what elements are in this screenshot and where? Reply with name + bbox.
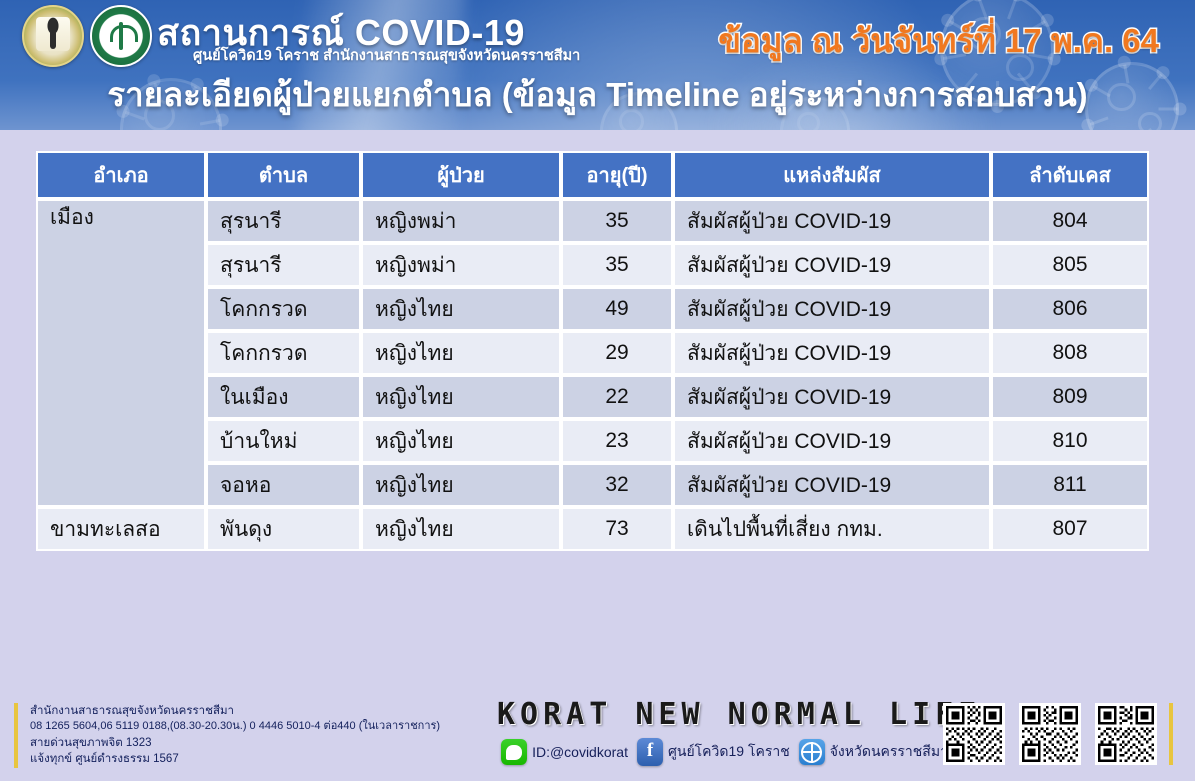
cell-age: 29 <box>561 331 673 375</box>
cell-patient: หญิงไทย <box>361 375 561 419</box>
social-facebook[interactable]: f ศูนย์โควิด19 โคราช <box>637 738 790 766</box>
cell-source: สัมผัสผู้ป่วย COVID-19 <box>673 287 991 331</box>
header-logos <box>22 5 152 67</box>
table-row: เมือง สุรนารี หญิงพม่า 35 สัมผัสผู้ป่วย … <box>36 199 1149 243</box>
column-header-amphoe: อำเภอ <box>36 151 206 199</box>
cell-age: 22 <box>561 375 673 419</box>
cell-source: เดินไปพื้นที่เสี่ยง กทม. <box>673 507 991 551</box>
cell-patient: หญิงพม่า <box>361 199 561 243</box>
cell-patient: หญิงไทย <box>361 287 561 331</box>
cell-source: สัมผัสผู้ป่วย COVID-19 <box>673 375 991 419</box>
campaign-brand: KORAT NEW NORMAL LIFE ID:@covidkorat f ศ… <box>497 697 952 766</box>
cell-case-no: 805 <box>991 243 1149 287</box>
cell-patient: หญิงพม่า <box>361 243 561 287</box>
social-line[interactable]: ID:@covidkorat <box>501 739 628 765</box>
cell-tambon: โคกกรวด <box>206 331 361 375</box>
cell-tambon: ในเมือง <box>206 375 361 419</box>
social-line-label: ID:@covidkorat <box>532 744 628 760</box>
cell-tambon: สุรนารี <box>206 243 361 287</box>
column-header-case-no: ลำดับเคส <box>991 151 1149 199</box>
cell-tambon: สุรนารี <box>206 199 361 243</box>
cell-source: สัมผัสผู้ป่วย COVID-19 <box>673 199 991 243</box>
contact-info: สำนักงานสาธารณสุขจังหวัดนครราชสีมา 08 12… <box>14 703 440 768</box>
cell-source: สัมผัสผู้ป่วย COVID-19 <box>673 243 991 287</box>
contact-line-complaint-center: แจ้งทุกข์ ศูนย์ดำรงธรรม 1567 <box>30 751 440 767</box>
cell-case-no: 807 <box>991 507 1149 551</box>
cases-table: อำเภอ ตำบล ผู้ป่วย อายุ(ปี) แหล่งสัมผัส … <box>36 151 1149 551</box>
cell-age: 73 <box>561 507 673 551</box>
page-header: สถานการณ์ COVID-19 ศูนย์โควิด19 โคราช สำ… <box>0 0 1195 130</box>
qr-code[interactable] <box>1019 703 1081 765</box>
cell-tambon: พันดุง <box>206 507 361 551</box>
cell-case-no: 810 <box>991 419 1149 463</box>
cell-age: 35 <box>561 243 673 287</box>
qr-code[interactable] <box>943 703 1005 765</box>
cell-patient: หญิงไทย <box>361 331 561 375</box>
report-date: ข้อมูล ณ วันจันทร์ที่ 17 พ.ค. 64 <box>718 14 1159 67</box>
cell-age: 32 <box>561 463 673 507</box>
cell-source: สัมผัสผู้ป่วย COVID-19 <box>673 419 991 463</box>
cell-patient: หญิงไทย <box>361 507 561 551</box>
website-icon <box>799 739 825 765</box>
column-header-source: แหล่งสัมผัส <box>673 151 991 199</box>
cell-age: 49 <box>561 287 673 331</box>
contact-line-phones: 08 1265 5604,06 5119 0188,(08.30-20.30น.… <box>30 719 440 735</box>
ministry-of-public-health-seal-icon <box>90 5 152 67</box>
cell-case-no: 806 <box>991 287 1149 331</box>
cell-patient: หญิงไทย <box>361 419 561 463</box>
caduceus-icon <box>102 17 140 55</box>
cell-amphoe: ขามทะเลสอ <box>36 507 206 551</box>
column-header-tambon: ตำบล <box>206 151 361 199</box>
cell-case-no: 804 <box>991 199 1149 243</box>
social-facebook-label: ศูนย์โควิด19 โคราช <box>668 741 790 763</box>
report-headline: รายละเอียดผู้ป่วยแยกตำบล (ข้อมูล Timelin… <box>0 68 1195 121</box>
table-row: ขามทะเลสอ พันดุง หญิงไทย 73 เดินไปพื้นที… <box>36 507 1149 551</box>
page-subtitle-organization: ศูนย์โควิด19 โคราช สำนักงานสาธารณสุขจังห… <box>193 44 580 67</box>
qr-code-pattern <box>946 706 1002 762</box>
campaign-title: KORAT NEW NORMAL LIFE <box>497 697 952 732</box>
cell-amphoe: เมือง <box>36 199 206 507</box>
qr-code[interactable] <box>1095 703 1157 765</box>
qr-code-group <box>943 703 1173 765</box>
cell-patient: หญิงไทย <box>361 463 561 507</box>
contact-line-organization: สำนักงานสาธารณสุขจังหวัดนครราชสีมา <box>30 703 440 719</box>
cases-table-container: อำเภอ ตำบล ผู้ป่วย อายุ(ปี) แหล่งสัมผัส … <box>36 151 1149 551</box>
cell-tambon: โคกกรวด <box>206 287 361 331</box>
cell-age: 35 <box>561 199 673 243</box>
cell-tambon: บ้านใหม่ <box>206 419 361 463</box>
cell-case-no: 809 <box>991 375 1149 419</box>
cell-tambon: จอหอ <box>206 463 361 507</box>
social-website[interactable]: จังหวัดนครราชสีมา <box>799 739 948 765</box>
page-footer: สำนักงานสาธารณสุขจังหวัดนครราชสีมา 08 12… <box>0 689 1195 781</box>
facebook-icon: f <box>637 738 663 766</box>
cell-age: 23 <box>561 419 673 463</box>
social-website-label: จังหวัดนครราชสีมา <box>830 741 948 763</box>
line-icon <box>501 739 527 765</box>
qr-code-pattern <box>1022 706 1078 762</box>
qr-code-pattern <box>1098 706 1154 762</box>
cell-source: สัมผัสผู้ป่วย COVID-19 <box>673 331 991 375</box>
contact-line-mental-health-hotline: สายด่วนสุขภาพจิต 1323 <box>30 735 440 751</box>
cell-case-no: 811 <box>991 463 1149 507</box>
column-header-age: อายุ(ปี) <box>561 151 673 199</box>
table-header-row: อำเภอ ตำบล ผู้ป่วย อายุ(ปี) แหล่งสัมผัส … <box>36 151 1149 199</box>
cell-case-no: 808 <box>991 331 1149 375</box>
cell-source: สัมผัสผู้ป่วย COVID-19 <box>673 463 991 507</box>
column-header-patient: ผู้ป่วย <box>361 151 561 199</box>
social-links: ID:@covidkorat f ศูนย์โควิด19 โคราช จังห… <box>497 738 952 766</box>
provincial-seal-icon <box>22 5 84 67</box>
